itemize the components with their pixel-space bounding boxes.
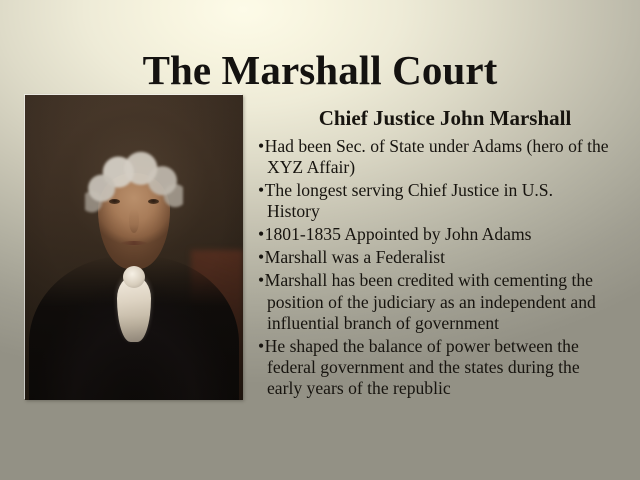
list-item-text: 1801-1835 Appointed by John Adams bbox=[265, 224, 532, 244]
bullet-marker-icon: • bbox=[258, 336, 264, 356]
bullet-marker-icon: • bbox=[258, 247, 264, 267]
bullet-marker-icon: • bbox=[258, 270, 264, 290]
portrait-canvas bbox=[25, 95, 243, 400]
bullet-marker-icon: • bbox=[258, 224, 264, 244]
portrait-vignette bbox=[25, 95, 243, 400]
slide: The Marshall Court Chief Justice John Ma… bbox=[0, 0, 640, 480]
list-item-text: Marshall has been credited with cementin… bbox=[265, 270, 596, 332]
list-item: •The longest serving Chief Justice in U.… bbox=[258, 180, 610, 222]
content-column: Chief Justice John Marshall •Had been Se… bbox=[258, 106, 610, 401]
list-item: •He shaped the balance of power between … bbox=[258, 336, 610, 399]
bullet-list: •Had been Sec. of State under Adams (her… bbox=[258, 136, 610, 399]
list-item-text: He shaped the balance of power between t… bbox=[265, 336, 580, 398]
list-item: •Marshall has been credited with cementi… bbox=[258, 270, 610, 333]
portrait-of-john-marshall bbox=[25, 95, 243, 400]
list-item-text: The longest serving Chief Justice in U.S… bbox=[265, 180, 553, 221]
bullet-marker-icon: • bbox=[258, 136, 264, 156]
list-item-text: Had been Sec. of State under Adams (hero… bbox=[265, 136, 609, 177]
list-item: •1801-1835 Appointed by John Adams bbox=[258, 224, 610, 245]
bullet-marker-icon: • bbox=[258, 180, 264, 200]
content-heading: Chief Justice John Marshall bbox=[280, 106, 610, 131]
list-item: •Marshall was a Federalist bbox=[258, 247, 610, 268]
list-item-text: Marshall was a Federalist bbox=[265, 247, 445, 267]
list-item: •Had been Sec. of State under Adams (her… bbox=[258, 136, 610, 178]
page-title: The Marshall Court bbox=[0, 49, 640, 92]
